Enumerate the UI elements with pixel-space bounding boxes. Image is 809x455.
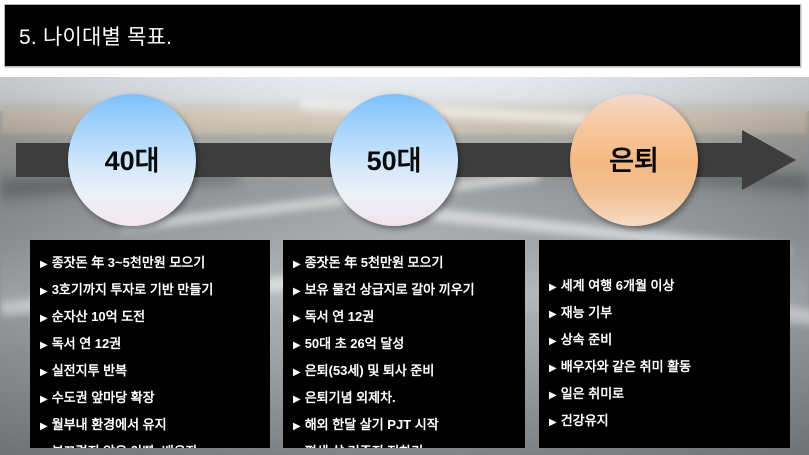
stage-marker-40s: 40대 [68,94,196,226]
goal-list-retirement: ▶세계 여행 6개월 이상▶재능 기부▶상속 준비▶배우자와 같은 취미 활동▶… [549,273,782,435]
triangle-right-icon: ▶ [293,414,301,439]
goal-item-label: 상속 준비 [561,327,612,352]
slide-canvas: 5. 나이대별 목표. 40대 50대 은퇴 ▶종잣돈 年 3~5천만원 모으기… [0,0,809,455]
goal-item: ▶수도권 앞마당 확장 [40,385,262,412]
goal-item-label: 월부내 환경에서 유지 [52,412,167,437]
goal-item-label: 재능 기부 [561,300,612,325]
goal-item: ▶재능 기부 [549,300,782,327]
triangle-right-icon: ▶ [549,275,557,300]
triangle-right-icon: ▶ [293,306,301,331]
triangle-right-icon: ▶ [293,360,301,385]
triangle-right-icon: ▶ [40,360,48,385]
triangle-right-icon: ▶ [40,279,48,304]
goal-item-label: 50대 초 26억 달성 [305,331,405,356]
goal-item: ▶건강유지 [549,408,782,435]
goal-item: ▶종잣돈 年 3~5천만원 모으기 [40,250,262,277]
goal-item: ▶은퇴기념 외제차. [293,385,517,412]
goal-item-label: 종잣돈 年 5천만원 모으기 [305,250,444,275]
triangle-right-icon: ▶ [40,414,48,439]
triangle-right-icon: ▶ [293,252,301,277]
goal-list-40s: ▶종잣돈 年 3~5천만원 모으기▶3호기까지 투자로 기반 만들기▶순자산 1… [40,250,262,448]
goal-item: ▶해외 한달 살기 PJT 시작 [293,412,517,439]
triangle-right-icon: ▶ [293,441,301,448]
triangle-right-icon: ▶ [40,441,48,448]
goal-item: ▶월부내 환경에서 유지 [40,412,262,439]
goal-item-label: 일은 취미로 [561,381,624,406]
stage-label-50s: 50대 [367,148,422,175]
stage-label-40s: 40대 [105,148,160,175]
goal-item: ▶실전지투 반복 [40,358,262,385]
triangle-right-icon: ▶ [40,306,48,331]
goal-item: ▶순자산 10억 도전 [40,304,262,331]
goal-item-label: 세계 여행 6개월 이상 [561,273,675,298]
goal-item-label: 실전지투 반복 [52,358,127,383]
goal-item: ▶일은 취미로 [549,381,782,408]
goal-item-label: 배우자와 같은 취미 활동 [561,354,691,379]
stage-marker-retirement: 은퇴 [570,94,698,226]
goal-item: ▶부끄럽지 않은 아빠, 배우자 [40,439,262,448]
triangle-right-icon: ▶ [293,279,301,304]
goal-item-label: 건강유지 [561,408,609,433]
goals-panel-40s: ▶종잣돈 年 3~5천만원 모으기▶3호기까지 투자로 기반 만들기▶순자산 1… [30,240,270,448]
goal-item-label: 종잣돈 年 3~5천만원 모으기 [52,250,206,275]
goal-item-label: 평생 살 거주지 정하기 [305,439,423,448]
goals-panel-50s: ▶종잣돈 年 5천만원 모으기▶보유 물건 상급지로 갈아 끼우기▶독서 연 1… [283,240,525,448]
goal-item: ▶종잣돈 年 5천만원 모으기 [293,250,517,277]
triangle-right-icon: ▶ [549,356,557,381]
triangle-right-icon: ▶ [549,329,557,354]
triangle-right-icon: ▶ [549,410,557,435]
stage-label-retirement: 은퇴 [609,148,659,175]
goal-item-label: 순자산 10억 도전 [52,304,145,329]
goal-item-label: 독서 연 12권 [52,331,122,356]
goal-item-label: 해외 한달 살기 PJT 시작 [305,412,439,437]
goal-item: ▶보유 물건 상급지로 갈아 끼우기 [293,277,517,304]
goal-item-label: 수도권 앞마당 확장 [52,385,155,410]
timeline-arrow-head [742,130,796,190]
goal-item: ▶상속 준비 [549,327,782,354]
goal-item: ▶평생 살 거주지 정하기 [293,439,517,448]
goals-panel-retirement: ▶세계 여행 6개월 이상▶재능 기부▶상속 준비▶배우자와 같은 취미 활동▶… [539,240,790,448]
stage-marker-50s: 50대 [330,94,458,226]
page-title: 5. 나이대별 목표. [19,21,172,51]
goal-item-label: 독서 연 12권 [305,304,375,329]
goal-item-label: 은퇴기념 외제차. [305,385,396,410]
goal-item-label: 3호기까지 투자로 기반 만들기 [52,277,214,302]
goal-item-label: 은퇴(53세) 및 퇴사 준비 [305,358,435,383]
triangle-right-icon: ▶ [293,333,301,358]
goal-item: ▶3호기까지 투자로 기반 만들기 [40,277,262,304]
triangle-right-icon: ▶ [293,387,301,412]
triangle-right-icon: ▶ [549,383,557,408]
goal-item: ▶독서 연 12권 [40,331,262,358]
goal-item-label: 보유 물건 상급지로 갈아 끼우기 [305,277,475,302]
goal-item-label: 부끄럽지 않은 아빠, 배우자 [52,439,198,448]
goal-item: ▶독서 연 12권 [293,304,517,331]
slide-title-bar: 5. 나이대별 목표. [4,4,801,67]
goal-item: ▶배우자와 같은 취미 활동 [549,354,782,381]
goal-list-50s: ▶종잣돈 年 5천만원 모으기▶보유 물건 상급지로 갈아 끼우기▶독서 연 1… [293,250,517,448]
triangle-right-icon: ▶ [40,387,48,412]
goal-item: ▶은퇴(53세) 및 퇴사 준비 [293,358,517,385]
goal-item: ▶세계 여행 6개월 이상 [549,273,782,300]
triangle-right-icon: ▶ [40,252,48,277]
triangle-right-icon: ▶ [40,333,48,358]
triangle-right-icon: ▶ [549,302,557,327]
goal-item: ▶50대 초 26억 달성 [293,331,517,358]
